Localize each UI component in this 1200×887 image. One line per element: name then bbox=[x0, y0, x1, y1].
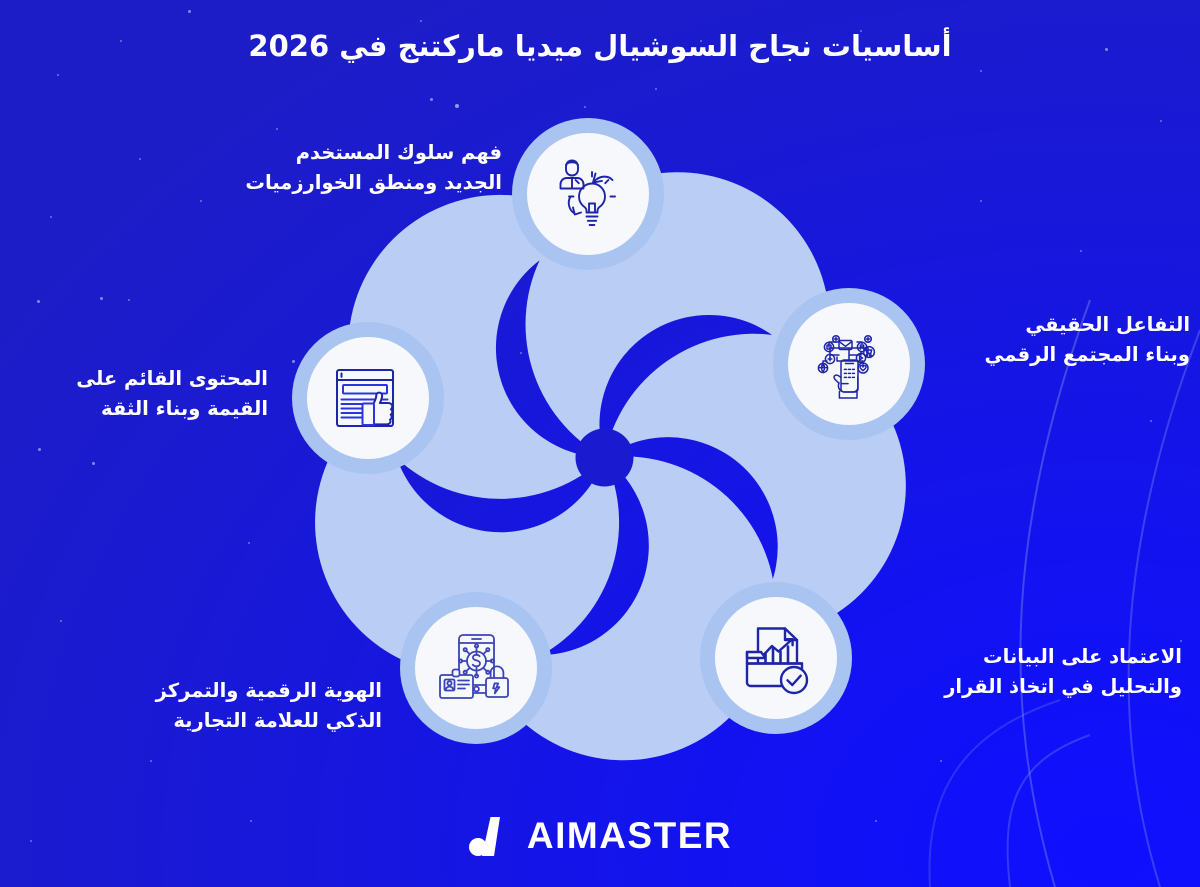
phone-id-lock-icon bbox=[434, 626, 518, 710]
label-brand-identity: الهوية الرقمية والتمركز الذكي للعلامة ال… bbox=[0, 676, 382, 735]
icon-badge-real-engagement[interactable] bbox=[773, 288, 925, 440]
label-real-engagement-line2: وبناء المجتمع الرقمي bbox=[942, 340, 1190, 370]
infographic-canvas: أساسيات نجاح السوشيال ميديا ماركتنج في 2… bbox=[0, 0, 1200, 887]
logo-wordmark: AIMASTER bbox=[527, 815, 732, 857]
label-user-behavior-line1: فهم سلوك المستخدم bbox=[0, 138, 502, 168]
label-value-content-line1: المحتوى القائم على bbox=[0, 364, 268, 394]
aimaster-logo-mark bbox=[468, 815, 514, 857]
page-title: أساسيات نجاح السوشيال ميديا ماركتنج في 2… bbox=[0, 26, 1200, 67]
icon-badge-data-driven[interactable] bbox=[700, 582, 852, 734]
label-real-engagement: التفاعل الحقيقي وبناء المجتمع الرقمي bbox=[942, 310, 1200, 369]
label-brand-identity-line1: الهوية الرقمية والتمركز bbox=[0, 676, 382, 706]
article-thumbsup-icon bbox=[326, 356, 410, 440]
label-user-behavior: فهم سلوك المستخدم الجديد ومنطق الخوارزمي… bbox=[0, 138, 502, 197]
label-data-driven-line2: والتحليل في اتخاذ القرار bbox=[880, 672, 1182, 702]
label-brand-identity-line2: الذكي للعلامة التجارية bbox=[0, 706, 382, 736]
icon-badge-user-behavior[interactable] bbox=[512, 118, 664, 270]
brand-logo: AIMASTER bbox=[0, 815, 1200, 857]
icon-badge-brand-identity[interactable] bbox=[400, 592, 552, 744]
user-idea-cycle-icon bbox=[546, 152, 630, 236]
label-data-driven-line1: الاعتماد على البيانات bbox=[880, 642, 1182, 672]
icon-badge-value-content[interactable] bbox=[292, 322, 444, 474]
pinwheel-hub bbox=[576, 429, 634, 487]
label-real-engagement-line1: التفاعل الحقيقي bbox=[942, 310, 1190, 340]
folder-chart-check-icon bbox=[734, 616, 818, 700]
label-user-behavior-line2: الجديد ومنطق الخوارزميات bbox=[0, 168, 502, 198]
label-value-content-line2: القيمة وبناء الثقة bbox=[0, 394, 268, 424]
label-data-driven: الاعتماد على البيانات والتحليل في اتخاذ … bbox=[880, 642, 1200, 701]
hand-phone-network-icon bbox=[806, 321, 892, 407]
label-value-content: المحتوى القائم على القيمة وبناء الثقة bbox=[0, 364, 268, 423]
